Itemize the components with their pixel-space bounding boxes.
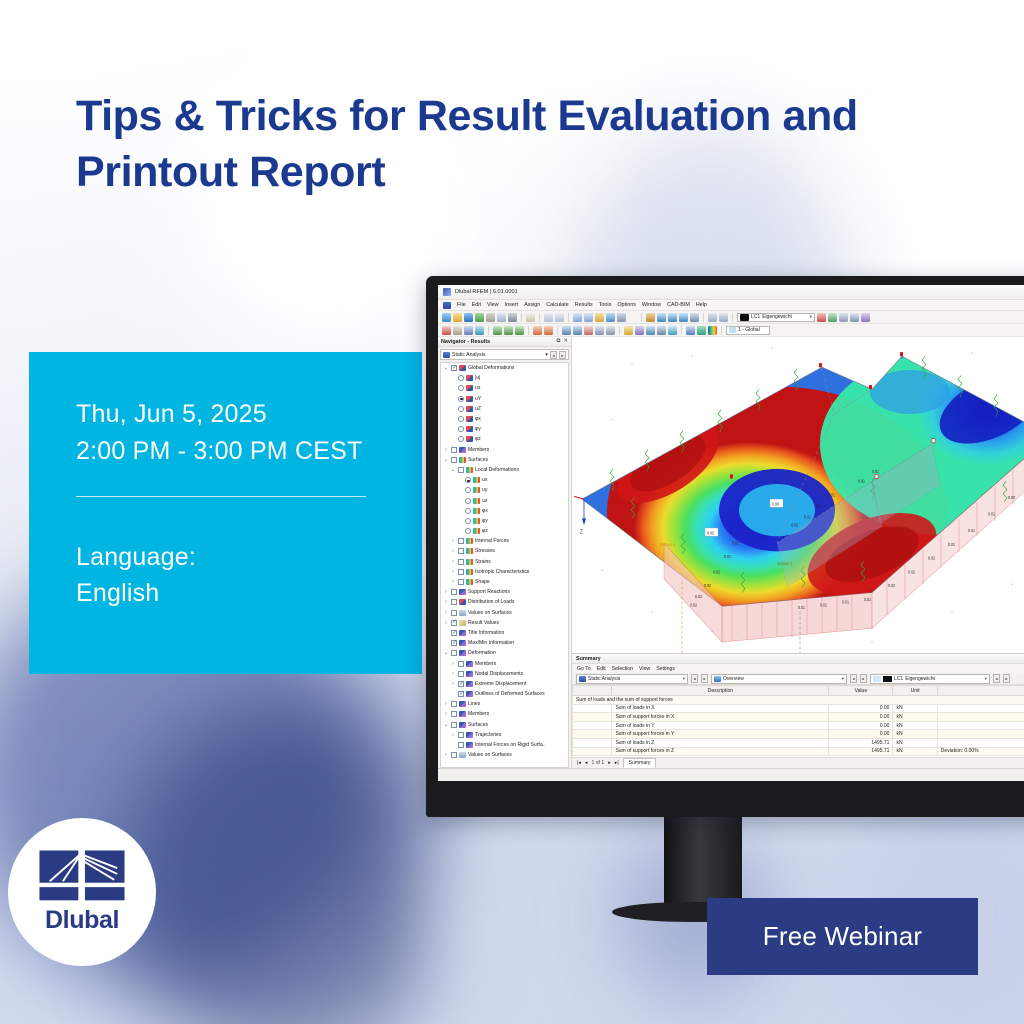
navigator-tree-item[interactable]: φz — [441, 526, 568, 536]
svg-text:0.02: 0.02 — [707, 530, 714, 536]
coordinate-system-selector[interactable]: 1 - Global — [726, 326, 770, 335]
navigator-tree-item[interactable]: uZ — [441, 404, 568, 414]
menu-item-assign[interactable]: Assign — [524, 302, 540, 308]
chevron-down-icon[interactable]: ▾ — [545, 352, 548, 358]
summary-table-container[interactable]: Description Value Unit Sum of loads and … — [572, 685, 1024, 757]
navigator-tree-item[interactable]: Max/Min Information — [441, 638, 568, 648]
tree-item-label: uy — [482, 487, 487, 493]
tree-item-icon — [466, 691, 473, 697]
toolbar-icon-redo[interactable] — [555, 313, 564, 322]
tree-item-icon — [473, 518, 480, 524]
summary-prev-button[interactable]: ◂ — [691, 674, 698, 683]
chevron-right-icon[interactable]: › — [443, 701, 449, 707]
navigator-tree-item[interactable]: uz — [441, 495, 568, 505]
tree-checkbox[interactable] — [458, 661, 464, 667]
summary-loadcase-selector[interactable]: LC1 Eigengewicht ▾ — [870, 674, 990, 684]
toolbar-icon-select-all[interactable] — [595, 326, 604, 335]
navigator-tree-item[interactable]: ⌄Deformation — [441, 648, 568, 658]
navigator-tree-item[interactable]: φz — [441, 434, 568, 444]
tree-radio[interactable] — [465, 477, 471, 483]
toolbar-icon-zoom-in[interactable] — [657, 313, 666, 322]
toolbar-icon-layers[interactable] — [628, 313, 637, 322]
chevron-down-icon[interactable]: ▾ — [810, 314, 812, 320]
summary-loadcase-code: LC1 — [894, 676, 903, 682]
tree-checkbox[interactable] — [451, 365, 457, 371]
navigator-tree-item[interactable]: ux — [441, 383, 568, 393]
navigator-tree-item[interactable]: ›Stresses — [441, 546, 568, 556]
summary-menu-settings[interactable]: Settings — [656, 666, 675, 672]
column-header-value: Value — [829, 686, 893, 696]
tree-item-icon — [466, 406, 473, 412]
toolbar-icon-grid[interactable] — [617, 313, 626, 322]
navigator-tree-item[interactable]: ›Nodal Displacements — [441, 669, 568, 679]
navigator-tree-item[interactable]: φy — [441, 516, 568, 526]
brand-logo-text: Dlubal — [45, 906, 119, 935]
toolbar-separator — [721, 326, 722, 335]
tree-radio[interactable] — [458, 385, 464, 391]
webinar-date: Thu, Jun 5, 2025 — [76, 396, 422, 433]
navigator-tree-item[interactable]: ⌄Global Deformations — [441, 363, 568, 373]
tree-checkbox[interactable] — [451, 701, 457, 707]
tree-item-label: Title Information — [468, 630, 504, 636]
cell-description: Sum of loads in Y — [612, 721, 829, 730]
toolbar-icon-view-front[interactable] — [708, 313, 717, 322]
summary-menu-selection[interactable]: Selection — [612, 666, 633, 672]
menu-item-window[interactable]: Window — [642, 302, 661, 308]
chevron-right-icon[interactable]: › — [450, 579, 456, 585]
navigator-dock-icon[interactable]: ⧉ — [556, 338, 560, 345]
summary-view-value: Overview — [723, 676, 744, 682]
chevron-right-icon[interactable]: › — [443, 599, 449, 605]
tree-item-label: Nodal Displacements — [475, 671, 523, 677]
cell-description: Sum of support forces in Z — [612, 747, 829, 756]
summary-menu-view[interactable]: View — [639, 666, 650, 672]
tree-radio[interactable] — [465, 518, 471, 524]
load-case-selector[interactable]: LC1 Eigengewicht ▾ — [737, 313, 815, 322]
rfem-application: Dlubal RFEM | 6.01.0001 File Edit View I… — [438, 285, 1024, 781]
toolbar-icon-info[interactable] — [624, 326, 633, 335]
chevron-down-icon[interactable]: ▾ — [842, 676, 844, 682]
svg-text:0.01: 0.01 — [798, 604, 805, 610]
app-toolbar-secondary[interactable]: 1 - Global — [438, 324, 1024, 337]
cell-index — [573, 747, 612, 756]
tree-radio[interactable] — [458, 426, 464, 432]
chevron-right-icon[interactable]: › — [443, 447, 449, 453]
toolbar-icon-open[interactable] — [453, 313, 462, 322]
tree-checkbox[interactable] — [451, 599, 457, 605]
tree-checkbox[interactable] — [458, 732, 464, 738]
tree-checkbox[interactable] — [451, 722, 457, 728]
table-row[interactable]: Sum of support forces in X0.00kN — [573, 713, 1024, 722]
navigator-tree-item[interactable]: uy — [441, 485, 568, 495]
chevron-down-icon[interactable]: ▾ — [683, 676, 685, 682]
toolbar-icon-zoom-out[interactable] — [668, 313, 677, 322]
tree-item-label: Shape — [475, 579, 490, 585]
summary-selector-bar[interactable]: Static Analysis ▾ ◂ ▸ Overview ▾ ◂ ▸ — [572, 673, 1024, 685]
tree-checkbox[interactable] — [458, 742, 464, 748]
chevron-right-icon[interactable]: › — [450, 671, 456, 677]
summary-lc-prev-button[interactable]: ◂ — [993, 674, 1000, 683]
navigator-tree-item[interactable]: ›Support Reactions — [441, 587, 568, 597]
tree-checkbox[interactable] — [451, 610, 457, 616]
cell-unit: kN — [893, 730, 937, 739]
chevron-right-icon[interactable]: › — [443, 711, 449, 717]
svg-text:0.01: 0.01 — [732, 540, 739, 546]
tree-item-label: φx — [475, 416, 481, 422]
svg-text:0.01: 0.01 — [816, 503, 823, 509]
svg-text:0.01: 0.01 — [828, 492, 835, 498]
navigator-tree-item[interactable]: ›Members — [441, 658, 568, 668]
toolbar-separator — [619, 326, 620, 335]
table-group-row: Sum of loads and the sum of support forc… — [573, 696, 1024, 705]
toolbar-separator — [521, 313, 522, 322]
menu-item-cad-bim[interactable]: CAD-BIM — [667, 302, 690, 308]
summary-next-button[interactable]: ▸ — [701, 674, 708, 683]
toolbar-icon-materials[interactable] — [646, 326, 655, 335]
svg-text:0.00: 0.00 — [772, 501, 779, 507]
chevron-right-icon[interactable]: › — [450, 548, 456, 554]
chevron-down-icon[interactable]: ⌄ — [443, 650, 449, 656]
tree-item-label: Trajectories — [475, 732, 501, 738]
tree-item-icon — [459, 701, 466, 707]
tree-checkbox[interactable] — [458, 569, 464, 575]
language-value: English — [76, 575, 422, 611]
svg-text:0.02: 0.02 — [695, 593, 702, 599]
dlubal-bridge-icon — [38, 849, 126, 902]
tree-item-icon — [466, 416, 473, 422]
page-title-line-1: Tips & Tricks for Result Evaluation and — [76, 88, 976, 144]
cell-index — [573, 730, 612, 739]
summary-sheet-tab[interactable]: Summary — [623, 758, 657, 768]
chevron-right-icon[interactable]: › — [450, 681, 456, 687]
tree-radio[interactable] — [458, 396, 464, 402]
toolbar-icon-surface[interactable] — [475, 326, 484, 335]
navigator-tree-item[interactable]: φx — [441, 414, 568, 424]
summary-loadcase-name: Eigengewicht — [905, 676, 935, 682]
tree-radio[interactable] — [458, 406, 464, 412]
toolbar-icon-node[interactable] — [442, 326, 451, 335]
navigator-analysis-selector[interactable]: Static Analysis ▾ ◂ ▸ — [440, 349, 569, 360]
toolbar-icon-window-split-h[interactable] — [584, 313, 593, 322]
toolbar-icon-deform-global[interactable] — [686, 326, 695, 335]
svg-text:Section 2: Section 2 — [777, 560, 792, 566]
monitor-mockup: Dlubal RFEM | 6.01.0001 File Edit View I… — [426, 276, 1024, 817]
tree-checkbox[interactable] — [451, 711, 457, 717]
summary-table: Description Value Unit Sum of loads and … — [572, 685, 1024, 756]
navigator-tree-item[interactable]: ›Shape — [441, 577, 568, 587]
summary-view-prev-button[interactable]: ◂ — [850, 674, 857, 683]
chevron-right-icon[interactable]: › — [450, 732, 456, 738]
tree-checkbox[interactable] — [451, 447, 457, 453]
navigator-panel[interactable]: Navigator - Results ⧉ ✕ Static Analysis … — [438, 337, 572, 781]
tree-item-label: Surfaces — [468, 722, 488, 728]
summary-header: Summary — [572, 654, 1024, 664]
app-statusbar: SNAP — [438, 768, 1024, 781]
navigator-tree-item[interactable]: ›Strains — [441, 557, 568, 567]
navigator-tree-item[interactable]: ⌄Surfaces — [441, 455, 568, 465]
tree-item-label: uz — [482, 498, 487, 504]
chevron-right-icon[interactable]: › — [450, 661, 456, 667]
menu-item-options[interactable]: Options — [617, 302, 636, 308]
summary-lc-next-button[interactable]: ▸ — [1003, 674, 1010, 683]
table-row[interactable]: Sum of support forces in Z1495.71kNDevia… — [573, 747, 1024, 756]
toolbar-icon-view-side[interactable] — [719, 313, 728, 322]
toolbar-icon-load-force[interactable] — [533, 326, 542, 335]
tree-radio[interactable] — [458, 416, 464, 422]
navigator-tree-item[interactable]: ›Trajectories — [441, 730, 568, 740]
fem-contour-plot: Z 0.00 0.010.01 0.010.01 0.010.01 0.02 0… — [572, 337, 1024, 653]
cell-index — [573, 713, 612, 722]
free-webinar-button-label: Free Webinar — [763, 921, 922, 952]
tree-item-icon — [466, 375, 473, 381]
tree-checkbox[interactable] — [458, 691, 464, 697]
menu-item-view[interactable]: View — [487, 302, 499, 308]
navigator-tree-item[interactable]: ›Members — [441, 445, 568, 455]
chevron-down-icon[interactable]: ⌄ — [443, 365, 449, 371]
navigator-tree[interactable]: ⌄Global Deformations|u|uxuYuZφxφyφz›Memb… — [440, 362, 569, 768]
toolbar-icon-sections[interactable] — [657, 326, 666, 335]
navigator-tree-item[interactable]: φy — [441, 424, 568, 434]
menu-item-results[interactable]: Results — [575, 302, 593, 308]
toolbar-separator — [641, 313, 642, 322]
menu-item-calculate[interactable]: Calculate — [546, 302, 568, 308]
tree-checkbox[interactable] — [451, 589, 457, 595]
cell-note: Deviation: 0.00% — [937, 747, 1024, 756]
tree-checkbox[interactable] — [458, 671, 464, 677]
chevron-right-icon[interactable]: › — [450, 569, 456, 575]
tree-checkbox[interactable] — [458, 579, 464, 585]
toolbar-icon-result-values[interactable] — [839, 313, 848, 322]
cell-value: 0.00 — [829, 721, 893, 730]
toolbar-separator — [557, 326, 558, 335]
app-titlebar: Dlubal RFEM | 6.01.0001 — [438, 285, 1024, 300]
menu-item-edit[interactable]: Edit — [472, 302, 481, 308]
summary-menubar[interactable]: Go To Edit Selection View Settings — [572, 664, 1024, 673]
tree-item-icon — [473, 528, 480, 534]
toolbar-icon-printout-report[interactable] — [526, 313, 535, 322]
tree-checkbox[interactable] — [451, 457, 457, 463]
toolbar-icon-measure[interactable] — [646, 313, 655, 322]
navigator-tree-item[interactable]: Outlines of Deformed Surfaces — [441, 689, 568, 699]
table-row[interactable]: Sum of loads in X0.00kN — [573, 704, 1024, 713]
toolbar-icon-deformation[interactable] — [828, 313, 837, 322]
toolbar-icon-member[interactable] — [464, 326, 473, 335]
toolbar-icon-support-line[interactable] — [504, 326, 513, 335]
tree-checkbox[interactable] — [458, 681, 464, 687]
chevron-right-icon[interactable]: › — [450, 559, 456, 565]
navigator-tree-item[interactable]: ›Lines — [441, 699, 568, 709]
toolbar-icon-load-moment[interactable] — [544, 326, 553, 335]
tree-item-icon — [473, 487, 480, 493]
toolbar-icon-zoom-all[interactable] — [690, 313, 699, 322]
summary-view-next-button[interactable]: ▸ — [860, 674, 867, 683]
free-webinar-button[interactable]: Free Webinar — [707, 898, 978, 975]
toolbar-icon-render-mode[interactable] — [595, 313, 604, 322]
toolbar-icon-support-surface[interactable] — [515, 326, 524, 335]
column-header-unit: Unit — [893, 686, 937, 696]
tree-item-label: Support Reactions — [468, 589, 510, 595]
toolbar-icon-filter[interactable] — [668, 326, 677, 335]
toolbar-icon-view-photo[interactable] — [606, 313, 615, 322]
chevron-right-icon[interactable]: › — [443, 620, 449, 626]
chevron-down-icon[interactable]: ⌄ — [443, 722, 449, 728]
pager-first-icon[interactable]: |◂ — [577, 760, 581, 766]
navigator-tree-item[interactable]: φx — [441, 506, 568, 516]
pager-last-icon[interactable]: ▸| — [615, 760, 619, 766]
page-title-line-2: Printout Report — [76, 144, 976, 200]
navigator-tree-item[interactable]: ›Extreme Displacement — [441, 679, 568, 689]
summary-title: Summary — [576, 656, 601, 662]
table-row[interactable]: Sum of loads in Y0.00kN — [573, 721, 1024, 730]
svg-text:0.02: 0.02 — [888, 582, 895, 588]
chevron-down-icon[interactable]: ▾ — [985, 676, 987, 682]
pager-prev-icon[interactable]: ◂ — [585, 760, 588, 766]
toolbar-icon-mesh[interactable] — [562, 326, 571, 335]
tree-checkbox[interactable] — [458, 538, 464, 544]
svg-text:0.02: 0.02 — [908, 569, 915, 575]
toolbar-icon-print-preview[interactable] — [497, 313, 506, 322]
tree-item-icon — [466, 579, 473, 585]
tree-item-icon — [473, 477, 480, 483]
menu-item-tools[interactable]: Tools — [599, 302, 612, 308]
toolbar-icon-print[interactable] — [508, 313, 517, 322]
svg-text:Section 1: Section 1 — [660, 541, 675, 547]
navigator-tree-item[interactable]: uY — [441, 394, 568, 404]
navigator-tree-item[interactable]: ux — [441, 475, 568, 485]
table-header-row: Description Value Unit — [573, 686, 1024, 696]
cell-note — [937, 738, 1024, 747]
tree-checkbox[interactable] — [451, 630, 457, 636]
navigator-header: Navigator - Results ⧉ ✕ — [438, 337, 571, 347]
tree-radio[interactable] — [465, 528, 471, 534]
tree-item-label: φz — [475, 436, 481, 442]
column-header-description: Description — [612, 686, 829, 696]
app-menubar[interactable]: File Edit View Insert Assign Calculate R… — [438, 300, 1024, 311]
pager-status: 1 of 1 — [591, 760, 604, 766]
tree-checkbox[interactable] — [451, 650, 457, 656]
summary-footer[interactable]: |◂ ◂ 1 of 1 ▸ ▸| Summary — [572, 757, 1024, 768]
cell-unit: kN — [893, 713, 937, 722]
navigator-tree-item[interactable]: ›Values on Surfaces — [441, 608, 568, 618]
tree-checkbox[interactable] — [458, 548, 464, 554]
toolbar-icon-surfaces-results[interactable] — [697, 326, 706, 335]
chevron-down-icon[interactable]: ⌄ — [450, 467, 456, 473]
tree-checkbox[interactable] — [451, 620, 457, 626]
cell-unit: kN — [893, 721, 937, 730]
summary-menu-goto[interactable]: Go To — [577, 666, 591, 672]
svg-text:0.02: 0.02 — [713, 569, 720, 575]
chevron-right-icon[interactable]: › — [443, 752, 449, 758]
svg-text:0.02: 0.02 — [928, 555, 935, 561]
cell-value: 0.00 — [829, 713, 893, 722]
toolbar-icon-line[interactable] — [453, 326, 462, 335]
model-viewport[interactable]: Z 0.00 0.010.01 0.010.01 0.010.01 0.02 0… — [572, 337, 1024, 653]
tree-radio[interactable] — [458, 436, 464, 442]
tree-checkbox[interactable] — [458, 559, 464, 565]
cell-unit: kN — [893, 738, 937, 747]
tree-item-icon — [466, 732, 473, 738]
toolbar-icon-result-table[interactable] — [861, 313, 870, 322]
pager-next-icon[interactable]: ▸ — [608, 760, 611, 766]
tree-item-icon — [466, 467, 473, 473]
toolbar-icon-support-nodal[interactable] — [493, 326, 502, 335]
chevron-right-icon[interactable]: › — [443, 610, 449, 616]
tree-checkbox[interactable] — [451, 640, 457, 646]
tree-item-label: Outlines of Deformed Surfaces — [475, 691, 545, 697]
next-case-button[interactable]: ▸ — [559, 351, 566, 359]
navigator-close-icon[interactable]: ✕ — [563, 338, 568, 345]
toolbar-icon-new[interactable] — [442, 313, 451, 322]
table-row[interactable]: Sum of loads in Z1495.71kN — [573, 738, 1024, 747]
summary-view-selector[interactable]: Overview ▾ — [711, 674, 847, 684]
toolbar-icon-result-diagram[interactable] — [850, 313, 859, 322]
tree-checkbox[interactable] — [458, 467, 464, 473]
navigator-tree-item[interactable]: Internal Forces on Rigid Surfa.. — [441, 740, 568, 750]
navigator-tree-item[interactable]: |u| — [441, 373, 568, 383]
navigator-tree-item[interactable]: ›Values on Surfaces — [441, 750, 568, 760]
toolbar-icon-lock[interactable] — [486, 313, 495, 322]
menu-item-insert[interactable]: Insert — [505, 302, 518, 308]
navigator-tree-item[interactable]: ⌄Local Deformations — [441, 465, 568, 475]
navigator-tree-item[interactable]: ›Isotropic Characteristics — [441, 567, 568, 577]
svg-text:0.01: 0.01 — [724, 554, 731, 560]
tree-item-icon — [466, 671, 473, 677]
tree-item-icon — [473, 508, 480, 514]
navigator-tree-item[interactable]: ›Members — [441, 709, 568, 719]
toolbar-icon-select-window[interactable] — [584, 326, 593, 335]
tree-radio[interactable] — [465, 487, 471, 493]
menu-item-file[interactable]: File — [457, 302, 466, 308]
navigator-tree-item[interactable]: Title Information — [441, 628, 568, 638]
prev-case-button[interactable]: ◂ — [550, 351, 557, 359]
chevron-right-icon[interactable]: › — [450, 538, 456, 544]
toolbar-icon-results-on-off[interactable] — [817, 313, 826, 322]
navigator-tree-item[interactable]: ›Internal Forces — [441, 536, 568, 546]
tree-radio[interactable] — [465, 508, 471, 514]
toolbar-icon-saveas[interactable] — [475, 313, 484, 322]
tree-item-icon — [459, 722, 466, 728]
tree-item-icon — [466, 559, 473, 565]
summary-panel[interactable]: Summary Go To Edit Selection View Settin… — [572, 653, 1024, 768]
navigator-tree-item[interactable]: ⌄Surfaces — [441, 720, 568, 730]
app-title: Dlubal RFEM | 6.01.0001 — [455, 289, 518, 295]
toolbar-icon-save[interactable] — [464, 313, 473, 322]
summary-analysis-selector[interactable]: Static Analysis ▾ — [576, 674, 688, 684]
svg-text:0.01: 0.01 — [948, 541, 955, 547]
chevron-down-icon[interactable]: ⌄ — [443, 457, 449, 463]
toolbar-icon-window-split-v[interactable] — [573, 313, 582, 322]
toolbar-icon-zoom-window[interactable] — [679, 313, 688, 322]
toolbar-icon-color-scale[interactable] — [708, 326, 717, 335]
toolbar-icon-tables[interactable] — [635, 326, 644, 335]
navigator-tree-item[interactable]: ›Result Values — [441, 618, 568, 628]
table-row[interactable]: Sum of support forces in Y0.00kN — [573, 730, 1024, 739]
tree-radio[interactable] — [458, 375, 464, 381]
tree-checkbox[interactable] — [451, 752, 457, 758]
tree-radio[interactable] — [465, 498, 471, 504]
summary-menu-edit[interactable]: Edit — [597, 666, 606, 672]
toolbar-icon-undo[interactable] — [544, 313, 553, 322]
chevron-right-icon[interactable]: › — [443, 589, 449, 595]
navigator-tree-item[interactable]: ›Distribution of Loads — [441, 597, 568, 607]
svg-text:0.01: 0.01 — [804, 514, 811, 520]
toolbar-icon-delete[interactable] — [606, 326, 615, 335]
app-toolbar-primary[interactable]: LC1 Eigengewicht ▾ — [438, 311, 1024, 324]
toolbar-icon-mesh-refine[interactable] — [573, 326, 582, 335]
menu-item-help[interactable]: Help — [696, 302, 707, 308]
svg-text:0.01: 0.01 — [864, 596, 871, 602]
tree-item-icon — [459, 599, 466, 605]
